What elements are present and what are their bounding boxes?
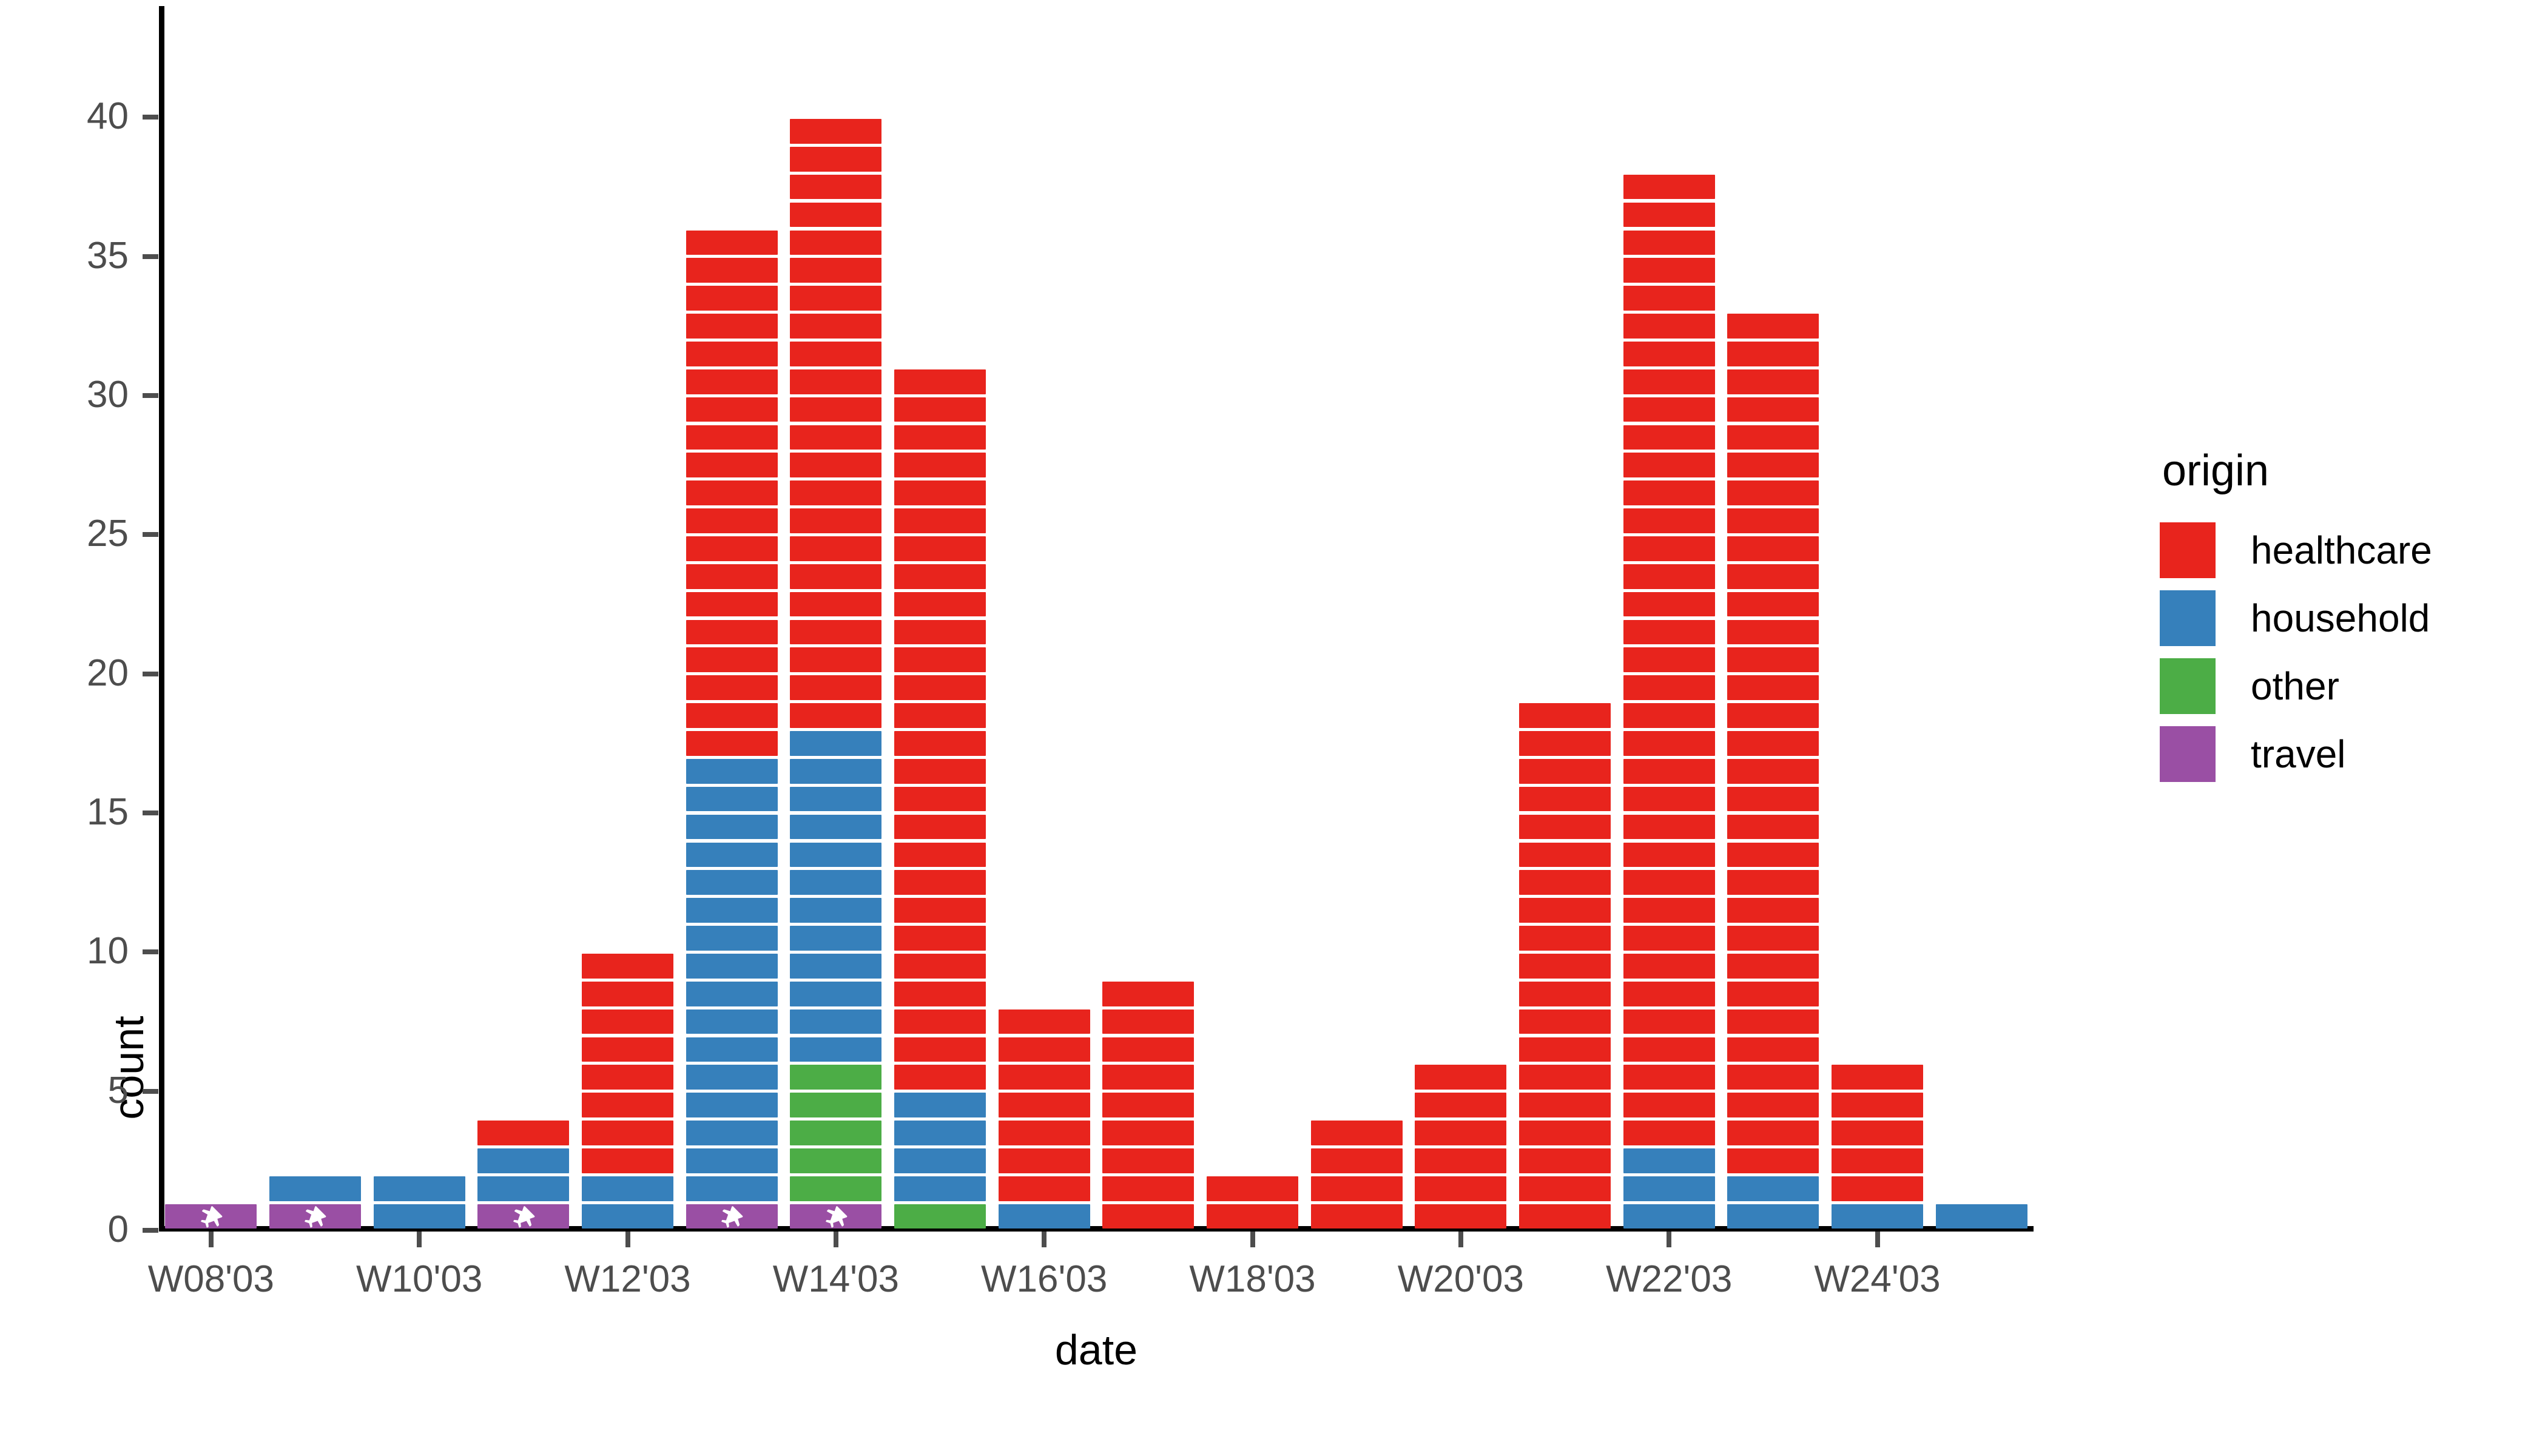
bar-segment-other[interactable]	[790, 1121, 881, 1145]
bar-segment-travel[interactable]	[477, 1204, 569, 1229]
bar-segment-healthcare[interactable]	[1727, 870, 1819, 895]
bar-segment-healthcare[interactable]	[1727, 620, 1819, 645]
bar-segment-healthcare[interactable]	[1415, 1148, 1506, 1173]
bar-segment-household[interactable]	[686, 1148, 778, 1173]
bar-segment-healthcare[interactable]	[894, 675, 986, 700]
bar-segment-household[interactable]	[686, 843, 778, 868]
bar-segment-healthcare[interactable]	[790, 314, 881, 339]
bar-segment-healthcare[interactable]	[1727, 815, 1819, 840]
bar-segment-healthcare[interactable]	[686, 480, 778, 505]
bar-segment-healthcare[interactable]	[1623, 258, 1715, 283]
y-axis-tick-label: 0	[7, 1211, 129, 1249]
bar-segment-healthcare[interactable]	[1727, 731, 1819, 756]
bar-segment-healthcare[interactable]	[686, 369, 778, 394]
x-axis-tick	[834, 1232, 838, 1247]
bar-segment-healthcare[interactable]	[1727, 843, 1819, 868]
bar-segment-healthcare[interactable]	[1727, 703, 1819, 728]
bar-segment-healthcare[interactable]	[1727, 536, 1819, 561]
bar-segment-healthcare[interactable]	[1727, 926, 1819, 951]
bar-segment-healthcare[interactable]	[1623, 954, 1715, 979]
x-axis-tick	[1875, 1232, 1880, 1247]
bar-segment-healthcare[interactable]	[1623, 203, 1715, 227]
bar-segment-healthcare[interactable]	[790, 453, 881, 477]
bar[interactable]	[790, 117, 881, 1230]
bar-segment-healthcare[interactable]	[790, 620, 881, 645]
bar-segment-household[interactable]	[790, 1037, 881, 1062]
bar-segment-healthcare[interactable]	[1623, 843, 1715, 868]
bar-segment-healthcare[interactable]	[894, 731, 986, 756]
bar-segment-healthcare[interactable]	[686, 647, 778, 672]
bar-segment-healthcare[interactable]	[1727, 314, 1819, 339]
bar-segment-healthcare[interactable]	[894, 870, 986, 895]
bar-segment-healthcare[interactable]	[1102, 1009, 1194, 1034]
legend-label-household: household	[2251, 596, 2430, 641]
bar-segment-household[interactable]	[686, 815, 778, 840]
bar-segment-healthcare[interactable]	[686, 703, 778, 728]
bar[interactable]	[1519, 702, 1611, 1230]
x-axis-tick-label: W08'03	[108, 1261, 314, 1298]
bar-segment-healthcare[interactable]	[999, 1065, 1090, 1090]
bar[interactable]	[1102, 980, 1194, 1230]
bar-segment-healthcare[interactable]	[582, 1148, 673, 1173]
y-axis-tick-label: 10	[7, 932, 129, 970]
bar-segment-household[interactable]	[1727, 1176, 1819, 1201]
bar[interactable]	[1207, 1175, 1298, 1230]
x-axis-tick	[1458, 1232, 1463, 1247]
bar[interactable]	[1936, 1202, 2027, 1230]
bar-segment-healthcare[interactable]	[1519, 1037, 1611, 1062]
bar-segment-healthcare[interactable]	[582, 1065, 673, 1090]
bar-segment-household[interactable]	[477, 1176, 569, 1201]
bar-segment-travel[interactable]	[269, 1204, 361, 1229]
bar-segment-household[interactable]	[686, 898, 778, 923]
bar-segment-household[interactable]	[894, 1121, 986, 1145]
bar-segment-healthcare[interactable]	[1519, 954, 1611, 979]
bar-segment-healthcare[interactable]	[790, 258, 881, 283]
bar-segment-healthcare[interactable]	[1623, 1037, 1715, 1062]
bar-segment-healthcare[interactable]	[1623, 815, 1715, 840]
bar-segment-healthcare[interactable]	[582, 1037, 673, 1062]
bar-segment-travel[interactable]	[686, 1204, 778, 1229]
bar-segment-healthcare[interactable]	[686, 286, 778, 311]
bar-segment-healthcare[interactable]	[1727, 453, 1819, 477]
bar-segment-healthcare[interactable]	[1623, 647, 1715, 672]
bar-segment-healthcare[interactable]	[894, 954, 986, 979]
bar-segment-healthcare[interactable]	[1519, 815, 1611, 840]
bar-segment-healthcare[interactable]	[790, 203, 881, 227]
bar-segment-healthcare[interactable]	[790, 480, 881, 505]
bar[interactable]	[1415, 1063, 1506, 1230]
bar-segment-healthcare[interactable]	[999, 1037, 1090, 1062]
bar-segment-healthcare[interactable]	[1207, 1204, 1298, 1229]
y-axis-tick-label: 35	[7, 237, 129, 275]
bar[interactable]	[999, 1008, 1090, 1230]
bar-segment-household[interactable]	[790, 843, 881, 868]
bar-segment-household[interactable]	[790, 731, 881, 756]
bar-segment-travel[interactable]	[165, 1204, 257, 1229]
bar-segment-healthcare[interactable]	[1519, 982, 1611, 1006]
bar-segment-healthcare[interactable]	[1519, 1148, 1611, 1173]
legend-item-household[interactable]: household	[2160, 584, 2524, 652]
bar-segment-healthcare[interactable]	[582, 1093, 673, 1117]
bar-segment-healthcare[interactable]	[1623, 787, 1715, 812]
bar-segment-household[interactable]	[686, 926, 778, 951]
bar-segment-healthcare[interactable]	[1519, 1121, 1611, 1145]
bar-segment-healthcare[interactable]	[1623, 453, 1715, 477]
bar-segment-household[interactable]	[790, 815, 881, 840]
y-axis-tick	[143, 393, 158, 398]
bar-segment-healthcare[interactable]	[1727, 342, 1819, 366]
bar-segment-healthcare[interactable]	[999, 1093, 1090, 1117]
bar-segment-healthcare[interactable]	[1102, 982, 1194, 1006]
bar-segment-other[interactable]	[894, 1204, 986, 1229]
bar-segment-household[interactable]	[894, 1176, 986, 1201]
bar-segment-healthcare[interactable]	[582, 982, 673, 1006]
bar-segment-healthcare[interactable]	[686, 536, 778, 561]
bar-segment-household[interactable]	[1623, 1148, 1715, 1173]
bar-segment-healthcare[interactable]	[1623, 1093, 1715, 1117]
bar-segment-healthcare[interactable]	[1623, 397, 1715, 422]
bar-segment-household[interactable]	[374, 1176, 465, 1201]
bar-segment-healthcare[interactable]	[1623, 703, 1715, 728]
bar-segment-healthcare[interactable]	[1623, 508, 1715, 533]
bar-segment-household[interactable]	[686, 1009, 778, 1034]
bar-segment-healthcare[interactable]	[582, 1121, 673, 1145]
x-axis-tick	[1042, 1232, 1046, 1247]
bar-segment-healthcare[interactable]	[894, 898, 986, 923]
bar-segment-healthcare[interactable]	[1519, 759, 1611, 784]
bar-segment-household[interactable]	[374, 1204, 465, 1229]
bar-segment-healthcare[interactable]	[1623, 926, 1715, 951]
bar[interactable]	[374, 1175, 465, 1230]
x-axis-tick-label: W10'03	[316, 1261, 522, 1298]
bar-segment-healthcare[interactable]	[790, 508, 881, 533]
bar-segment-household[interactable]	[477, 1148, 569, 1173]
airplane-icon	[824, 1204, 848, 1228]
bar-segment-household[interactable]	[1832, 1204, 1923, 1229]
bar-segment-healthcare[interactable]	[1519, 1065, 1611, 1090]
bar-segment-healthcare[interactable]	[1519, 843, 1611, 868]
bar-segment-healthcare[interactable]	[1623, 898, 1715, 923]
bar-segment-healthcare[interactable]	[1623, 175, 1715, 200]
bar-segment-healthcare[interactable]	[1727, 982, 1819, 1006]
bar-segment-healthcare[interactable]	[1415, 1204, 1506, 1229]
bar-segment-household[interactable]	[790, 898, 881, 923]
bar-segment-household[interactable]	[1623, 1176, 1715, 1201]
bar-segment-healthcare[interactable]	[1727, 480, 1819, 505]
bar-segment-healthcare[interactable]	[1623, 480, 1715, 505]
bar-segment-travel[interactable]	[790, 1204, 881, 1229]
bar-segment-healthcare[interactable]	[1623, 731, 1715, 756]
bar-segment-healthcare[interactable]	[1727, 954, 1819, 979]
bar-segment-healthcare[interactable]	[1102, 1121, 1194, 1145]
bar-segment-healthcare[interactable]	[1519, 703, 1611, 728]
bar-segment-household[interactable]	[894, 1148, 986, 1173]
bar-segment-healthcare[interactable]	[790, 175, 881, 200]
bar-segment-household[interactable]	[686, 1121, 778, 1145]
bar-segment-healthcare[interactable]	[894, 369, 986, 394]
bar-segment-other[interactable]	[790, 1093, 881, 1117]
bar[interactable]	[1311, 1119, 1403, 1230]
bar[interactable]	[1832, 1063, 1923, 1230]
bar-segment-household[interactable]	[1936, 1204, 2027, 1229]
bar-segment-household[interactable]	[790, 787, 881, 812]
bar-segment-healthcare[interactable]	[1623, 1009, 1715, 1034]
bar-segment-healthcare[interactable]	[1623, 536, 1715, 561]
bar-segment-healthcare[interactable]	[1623, 314, 1715, 339]
legend-item-other[interactable]: other	[2160, 652, 2524, 720]
bar[interactable]	[165, 1202, 257, 1230]
bar-segment-healthcare[interactable]	[790, 397, 881, 422]
bar-segment-healthcare[interactable]	[686, 564, 778, 589]
bar[interactable]	[1623, 173, 1715, 1230]
bar-segment-healthcare[interactable]	[1727, 1148, 1819, 1173]
bar-segment-healthcare[interactable]	[1832, 1121, 1923, 1145]
x-axis-tick	[209, 1232, 214, 1247]
airplane-icon	[511, 1204, 536, 1228]
bar-segment-healthcare[interactable]	[1311, 1121, 1403, 1145]
bar-segment-household[interactable]	[790, 926, 881, 951]
bar-segment-healthcare[interactable]	[1832, 1065, 1923, 1090]
bar-segment-healthcare[interactable]	[894, 843, 986, 868]
legend-item-travel[interactable]: travel	[2160, 720, 2524, 788]
bar-segment-healthcare[interactable]	[999, 1148, 1090, 1173]
bar-segment-healthcare[interactable]	[1102, 1093, 1194, 1117]
bar-segment-healthcare[interactable]	[1623, 425, 1715, 450]
bar-segment-healthcare[interactable]	[686, 231, 778, 255]
bar-segment-healthcare[interactable]	[790, 342, 881, 366]
bar-segment-healthcare[interactable]	[686, 592, 778, 617]
bar-segment-household[interactable]	[790, 1009, 881, 1034]
bar-segment-healthcare[interactable]	[686, 453, 778, 477]
bar-segment-healthcare[interactable]	[894, 592, 986, 617]
bar-segment-healthcare[interactable]	[686, 620, 778, 645]
bar-segment-healthcare[interactable]	[1727, 787, 1819, 812]
bar-segment-healthcare[interactable]	[894, 1009, 986, 1034]
bar-segment-healthcare[interactable]	[686, 675, 778, 700]
bar-segment-household[interactable]	[1623, 1204, 1715, 1229]
bar-segment-healthcare[interactable]	[1519, 1204, 1611, 1229]
bar-segment-healthcare[interactable]	[790, 592, 881, 617]
bar-segment-healthcare[interactable]	[1102, 1204, 1194, 1229]
bar-segment-healthcare[interactable]	[1623, 1065, 1715, 1090]
bar-segment-healthcare[interactable]	[1623, 592, 1715, 617]
bar-segment-healthcare[interactable]	[686, 397, 778, 422]
bar-segment-healthcare[interactable]	[1727, 564, 1819, 589]
bar-segment-healthcare[interactable]	[790, 119, 881, 144]
bar-segment-healthcare[interactable]	[894, 453, 986, 477]
bar-segment-healthcare[interactable]	[999, 1176, 1090, 1201]
bar-segment-household[interactable]	[1727, 1204, 1819, 1229]
bar-segment-healthcare[interactable]	[1415, 1093, 1506, 1117]
y-axis-tick	[143, 1228, 158, 1233]
legend-label-travel: travel	[2251, 732, 2346, 777]
bar-segment-healthcare[interactable]	[790, 286, 881, 311]
bar-segment-healthcare[interactable]	[894, 397, 986, 422]
bar-segment-healthcare[interactable]	[894, 425, 986, 450]
bar-segment-healthcare[interactable]	[894, 982, 986, 1006]
x-axis-tick-label: W12'03	[525, 1261, 731, 1298]
bar-segment-healthcare[interactable]	[790, 564, 881, 589]
bar-segment-healthcare[interactable]	[1623, 759, 1715, 784]
bar-segment-healthcare[interactable]	[790, 231, 881, 255]
bar-segment-healthcare[interactable]	[999, 1121, 1090, 1145]
bar-segment-healthcare[interactable]	[582, 1009, 673, 1034]
bar-segment-other[interactable]	[790, 1176, 881, 1201]
bar-segment-healthcare[interactable]	[1623, 564, 1715, 589]
bar-segment-healthcare[interactable]	[477, 1121, 569, 1145]
bar-segment-healthcare[interactable]	[894, 787, 986, 812]
bar-segment-healthcare[interactable]	[1727, 1009, 1819, 1034]
bar-segment-healthcare[interactable]	[686, 342, 778, 366]
plot-area: 0510152025303540	[159, 6, 2034, 1230]
bar-segment-household[interactable]	[894, 1093, 986, 1117]
bar-segment-healthcare[interactable]	[790, 369, 881, 394]
bar-segment-healthcare[interactable]	[1623, 870, 1715, 895]
bar[interactable]	[477, 1119, 569, 1230]
bar-segment-healthcare[interactable]	[1623, 1121, 1715, 1145]
bar-segment-healthcare[interactable]	[894, 815, 986, 840]
bar-segment-healthcare[interactable]	[894, 926, 986, 951]
bar-segment-household[interactable]	[686, 759, 778, 784]
bar-segment-healthcare[interactable]	[686, 258, 778, 283]
legend-item-healthcare[interactable]: healthcare	[2160, 516, 2524, 584]
bar[interactable]	[686, 229, 778, 1230]
bar-segment-healthcare[interactable]	[1102, 1065, 1194, 1090]
bar-segment-healthcare[interactable]	[1727, 369, 1819, 394]
bar-segment-healthcare[interactable]	[894, 564, 986, 589]
bar-segment-healthcare[interactable]	[894, 620, 986, 645]
bar-segment-healthcare[interactable]	[894, 759, 986, 784]
bar-segment-healthcare[interactable]	[790, 675, 881, 700]
bar-segment-healthcare[interactable]	[1102, 1037, 1194, 1062]
bar-segment-healthcare[interactable]	[582, 954, 673, 979]
bar-segment-healthcare[interactable]	[1519, 731, 1611, 756]
bar-segment-healthcare[interactable]	[1519, 1009, 1611, 1034]
x-axis-tick	[417, 1232, 422, 1247]
bar-segment-household[interactable]	[686, 1037, 778, 1062]
bar-segment-healthcare[interactable]	[1519, 1176, 1611, 1201]
chart-canvas: count 0510152025303540 date origin healt…	[0, 0, 2548, 1456]
bar[interactable]	[269, 1175, 361, 1230]
bar-segment-healthcare[interactable]	[1623, 342, 1715, 366]
bar-segment-healthcare[interactable]	[1727, 1093, 1819, 1117]
bar-segment-healthcare[interactable]	[1311, 1204, 1403, 1229]
bar-segment-healthcare[interactable]	[1727, 1037, 1819, 1062]
bar-segment-healthcare[interactable]	[894, 508, 986, 533]
x-axis-tick-label: W16'03	[941, 1261, 1147, 1298]
bar-segment-healthcare[interactable]	[1519, 926, 1611, 951]
bar-segment-healthcare[interactable]	[1623, 675, 1715, 700]
bar-segment-healthcare[interactable]	[894, 1065, 986, 1090]
bar-segment-healthcare[interactable]	[894, 1037, 986, 1062]
bar-segment-healthcare[interactable]	[1623, 231, 1715, 255]
bar-segment-healthcare[interactable]	[1727, 898, 1819, 923]
bar-segment-household[interactable]	[686, 870, 778, 895]
bar-segment-healthcare[interactable]	[1415, 1121, 1506, 1145]
bar-segment-healthcare[interactable]	[790, 425, 881, 450]
bar[interactable]	[1727, 312, 1819, 1231]
bar-segment-household[interactable]	[686, 1065, 778, 1090]
bar-segment-healthcare[interactable]	[1727, 675, 1819, 700]
bar-segment-household[interactable]	[999, 1204, 1090, 1229]
y-axis-tick-label: 30	[7, 376, 129, 414]
bar-segment-healthcare[interactable]	[1727, 592, 1819, 617]
bar-segment-household[interactable]	[582, 1204, 673, 1229]
bar-segment-household[interactable]	[686, 1176, 778, 1201]
bar-segment-healthcare[interactable]	[1311, 1148, 1403, 1173]
bar-segment-healthcare[interactable]	[1727, 397, 1819, 422]
bar-segment-healthcare[interactable]	[1727, 508, 1819, 533]
bar-segment-healthcare[interactable]	[1832, 1176, 1923, 1201]
bar-segment-household[interactable]	[790, 954, 881, 979]
bar-segment-healthcare[interactable]	[686, 508, 778, 533]
bar[interactable]	[582, 952, 673, 1230]
bar-segment-other[interactable]	[790, 1148, 881, 1173]
bar-segment-household[interactable]	[790, 982, 881, 1006]
bar-segment-healthcare[interactable]	[1415, 1065, 1506, 1090]
bar-segment-healthcare[interactable]	[686, 731, 778, 756]
bar-segment-healthcare[interactable]	[1519, 1093, 1611, 1117]
bar-segment-healthcare[interactable]	[894, 703, 986, 728]
bar-segment-healthcare[interactable]	[894, 536, 986, 561]
bar-segment-healthcare[interactable]	[790, 536, 881, 561]
bar-segment-healthcare[interactable]	[1207, 1176, 1298, 1201]
legend-label-healthcare: healthcare	[2251, 528, 2432, 573]
bar[interactable]	[894, 368, 986, 1230]
bar-segment-healthcare[interactable]	[1102, 1148, 1194, 1173]
bar-segment-healthcare[interactable]	[1623, 286, 1715, 311]
bar-segment-healthcare[interactable]	[1727, 1121, 1819, 1145]
bar-segment-household[interactable]	[582, 1176, 673, 1201]
bar-segment-healthcare[interactable]	[1311, 1176, 1403, 1201]
bar-segment-healthcare[interactable]	[1519, 870, 1611, 895]
bar-segment-healthcare[interactable]	[1727, 759, 1819, 784]
x-axis-tick-label: W14'03	[733, 1261, 939, 1298]
bar-segment-healthcare[interactable]	[790, 647, 881, 672]
bar-segment-healthcare[interactable]	[1623, 620, 1715, 645]
bar-segment-healthcare[interactable]	[894, 647, 986, 672]
bar-segment-household[interactable]	[790, 759, 881, 784]
bar-segment-household[interactable]	[686, 787, 778, 812]
bar-segment-healthcare[interactable]	[1519, 898, 1611, 923]
bar-segment-healthcare[interactable]	[1102, 1176, 1194, 1201]
bar-segment-healthcare[interactable]	[1415, 1176, 1506, 1201]
bar-segment-healthcare[interactable]	[686, 425, 778, 450]
y-axis-tick	[143, 672, 158, 676]
bar-segment-household[interactable]	[686, 1093, 778, 1117]
bar-segment-healthcare[interactable]	[790, 703, 881, 728]
bar-segment-other[interactable]	[790, 1065, 881, 1090]
x-axis-label: date	[159, 1326, 2034, 1374]
bar-segment-healthcare[interactable]	[1832, 1093, 1923, 1117]
bar-segment-healthcare[interactable]	[1832, 1148, 1923, 1173]
bar-segment-household[interactable]	[790, 870, 881, 895]
bar-segment-healthcare[interactable]	[1623, 369, 1715, 394]
bar-segment-household[interactable]	[686, 982, 778, 1006]
bar-segment-healthcare[interactable]	[1727, 647, 1819, 672]
bar-segment-healthcare[interactable]	[1727, 1065, 1819, 1090]
bar-segment-healthcare[interactable]	[686, 314, 778, 339]
bar-segment-healthcare[interactable]	[1519, 787, 1611, 812]
bar-segment-household[interactable]	[686, 954, 778, 979]
bar-segment-healthcare[interactable]	[1727, 425, 1819, 450]
bar-segment-healthcare[interactable]	[790, 147, 881, 172]
bar-segment-household[interactable]	[269, 1176, 361, 1201]
bar-segment-healthcare[interactable]	[894, 480, 986, 505]
bar-segment-healthcare[interactable]	[999, 1009, 1090, 1034]
bar-segment-healthcare[interactable]	[1623, 982, 1715, 1006]
